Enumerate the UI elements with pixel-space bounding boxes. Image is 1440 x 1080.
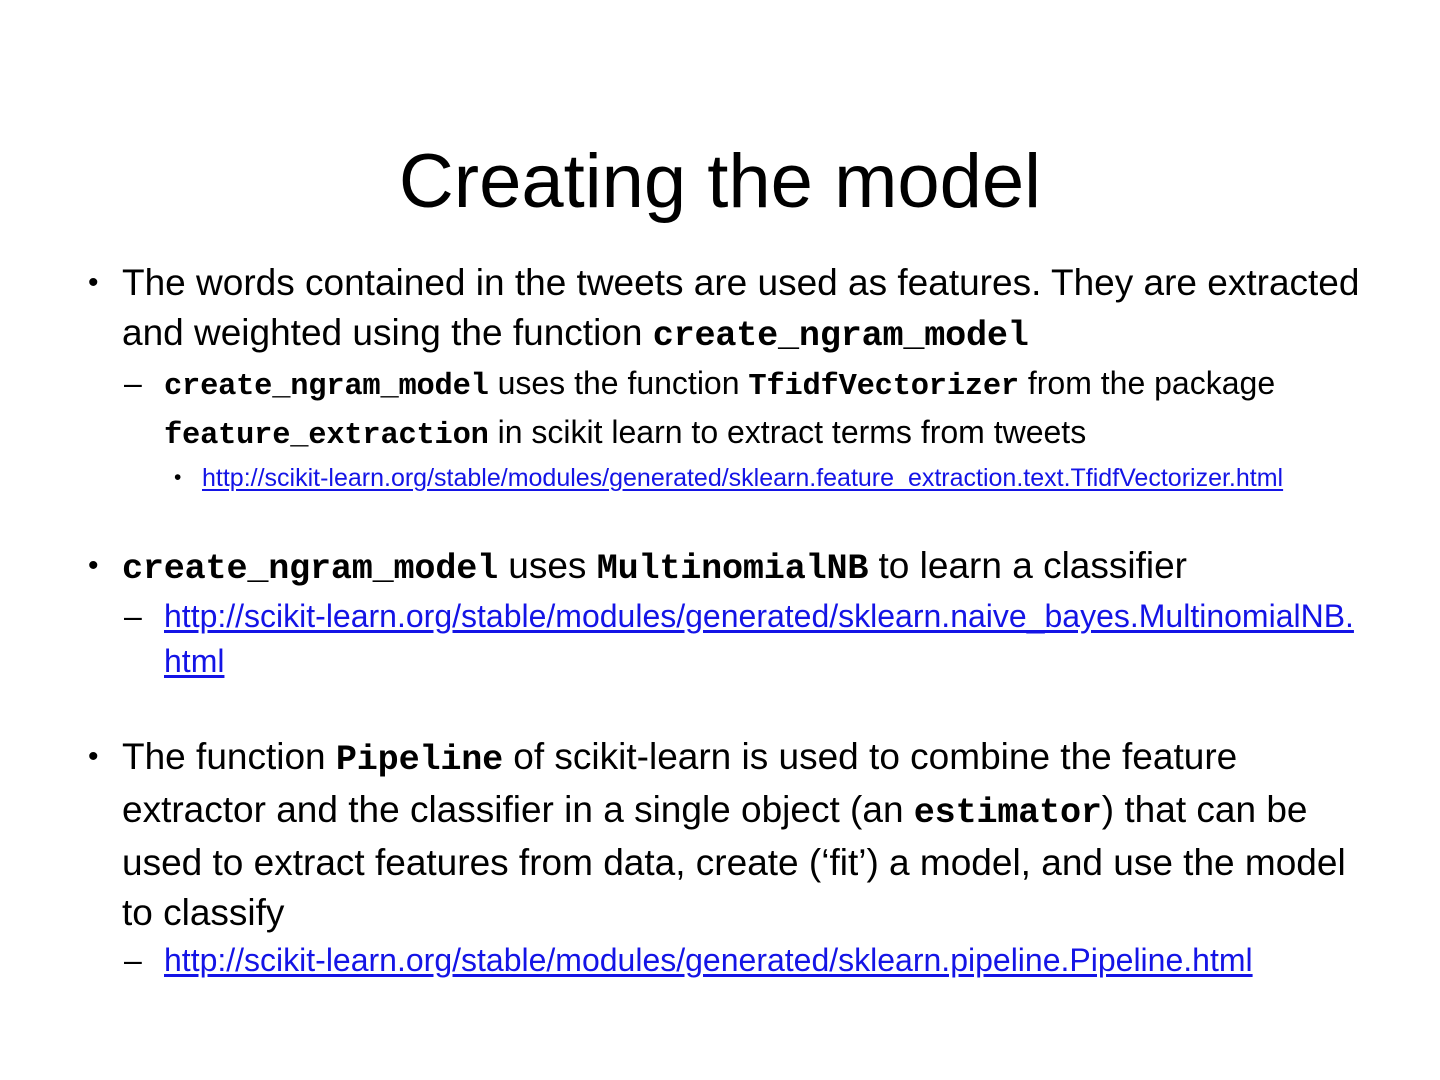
list-item-text: http://scikit-learn.org/stable/modules/g… bbox=[164, 594, 1370, 684]
bullet-marker-icon: • bbox=[88, 541, 99, 591]
bullet-marker-icon: • bbox=[88, 732, 99, 782]
list-item: – http://scikit-learn.org/stable/modules… bbox=[122, 938, 1370, 983]
spacer bbox=[80, 684, 1370, 732]
code-run: TfidfVectorizer bbox=[748, 370, 1019, 404]
code-run: create_ngram_model bbox=[653, 316, 1029, 356]
text-run: in scikit learn to extract terms from tw… bbox=[489, 414, 1087, 450]
list-item: • The words contained in the tweets are … bbox=[80, 258, 1370, 361]
list-item-text: http://scikit-learn.org/stable/modules/g… bbox=[164, 938, 1370, 983]
list-item: • create_ngram_model uses MultinomialNB … bbox=[80, 541, 1370, 594]
list-item-text: create_ngram_model uses MultinomialNB to… bbox=[122, 541, 1370, 594]
slide: Creating the model • The words contained… bbox=[0, 0, 1440, 1080]
code-run: MultinomialNB bbox=[597, 549, 869, 589]
text-run: to learn a classifier bbox=[868, 545, 1187, 586]
page-title: Creating the model bbox=[0, 137, 1440, 227]
list-item-text: create_ngram_model uses the function Tfi… bbox=[164, 361, 1370, 459]
text-run: The function bbox=[122, 736, 336, 777]
text-run: from the package bbox=[1019, 365, 1275, 401]
dash-marker-icon: – bbox=[124, 938, 142, 983]
text-run: uses the function bbox=[489, 365, 749, 401]
text-run: uses bbox=[498, 545, 597, 586]
hyperlink-pipeline[interactable]: http://scikit-learn.org/stable/modules/g… bbox=[164, 942, 1253, 978]
code-run: Pipeline bbox=[336, 740, 503, 780]
bullet-marker-icon: • bbox=[88, 258, 99, 308]
hyperlink-multinomialnb[interactable]: http://scikit-learn.org/stable/modules/g… bbox=[164, 598, 1354, 679]
list-item: • http://scikit-learn.org/stable/modules… bbox=[164, 459, 1370, 497]
slide-body: • The words contained in the tweets are … bbox=[80, 258, 1370, 983]
code-run: create_ngram_model bbox=[122, 549, 498, 589]
dash-marker-icon: – bbox=[124, 594, 142, 639]
list-item-text: The function Pipeline of scikit-learn is… bbox=[122, 732, 1370, 938]
dash-marker-icon: – bbox=[124, 361, 142, 406]
hyperlink-tfidf-vectorizer[interactable]: http://scikit-learn.org/stable/modules/g… bbox=[202, 464, 1283, 492]
list-item-text: The words contained in the tweets are us… bbox=[122, 258, 1370, 361]
code-run: create_ngram_model bbox=[164, 370, 489, 404]
list-item: – create_ngram_model uses the function T… bbox=[122, 361, 1370, 459]
spacer bbox=[80, 497, 1370, 541]
list-item: – http://scikit-learn.org/stable/modules… bbox=[122, 594, 1370, 684]
bullet-marker-icon: • bbox=[174, 459, 181, 497]
code-run: feature_extraction bbox=[164, 419, 489, 453]
list-item: • The function Pipeline of scikit-learn … bbox=[80, 732, 1370, 938]
code-run: estimator bbox=[914, 793, 1102, 833]
list-item-text: http://scikit-learn.org/stable/modules/g… bbox=[202, 459, 1370, 497]
